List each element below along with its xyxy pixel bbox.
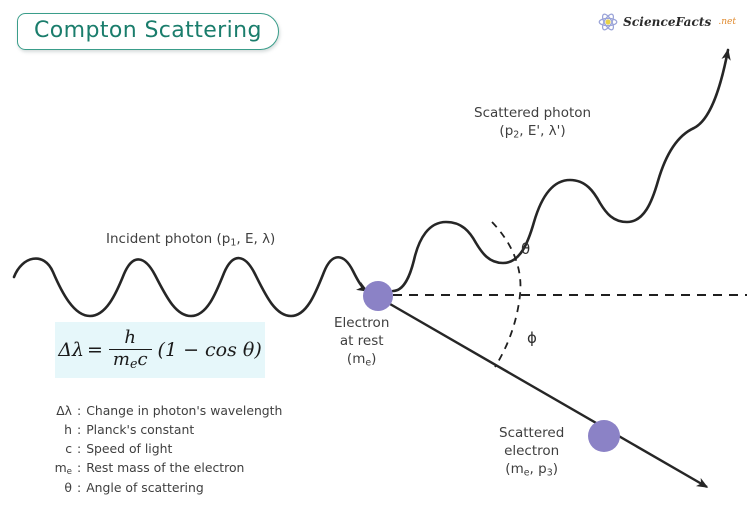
formula-lhs: Δλ [58, 339, 84, 361]
scattered-photon-tail: , E', λ') [519, 123, 565, 139]
incident-photon-label: Incident photon (p1, E, λ) [106, 231, 275, 250]
phi-angle-label: ϕ [527, 329, 537, 347]
scattered-electron-tail: ) [553, 461, 558, 477]
theta-angle-label: θ [521, 240, 530, 258]
electron-at-rest-line1: Electron [334, 315, 389, 333]
scattered-electron-p: , p [530, 461, 547, 477]
electron-mass-symbol: (m [347, 351, 365, 367]
formula-den-m: m [113, 349, 130, 370]
legend-row: c : Speed of light [38, 440, 282, 459]
legend-definition: Speed of light [86, 440, 172, 459]
legend-symbol-subscript: e [67, 467, 72, 477]
legend-symbol: Δλ [38, 402, 77, 421]
scattered-photon-wave [393, 50, 728, 291]
scattered-electron-circle [588, 420, 620, 452]
legend-definition: Change in photon's wavelength [86, 402, 282, 421]
scattered-photon-p: (p [499, 123, 513, 139]
electron-at-rest-label: Electron at rest (me) [334, 315, 389, 369]
legend-definition: Angle of scattering [86, 479, 204, 498]
diagram-canvas: Compton Scattering ScienceFacts .net [0, 0, 750, 511]
legend-symbol: me [38, 459, 77, 479]
electron-mass-tail: ) [371, 351, 376, 367]
electron-at-rest-circle [363, 281, 393, 311]
formula-den-c: c [137, 349, 147, 370]
incident-photon-text-tail: , E, λ) [236, 231, 275, 247]
legend-symbol: c [38, 440, 77, 459]
scattered-electron-line3: (me, p3) [499, 461, 564, 480]
legend-symbol: θ [38, 479, 77, 498]
compton-formula: Δλ = h mec (1 − cos θ) [58, 329, 262, 370]
formula-denominator: mec [109, 349, 152, 371]
legend-definition: Rest mass of the electron [86, 459, 244, 478]
scattered-photon-line1: Scattered photon [474, 105, 591, 123]
legend-row: h : Planck's constant [38, 421, 282, 440]
legend-row: θ : Angle of scattering [38, 479, 282, 498]
formula-numerator: h [119, 329, 141, 348]
incident-photon-wave [14, 257, 367, 316]
legend-row: me : Rest mass of the electron [38, 459, 282, 479]
scattered-electron-line1: Scattered [499, 425, 564, 443]
legend-symbol: h [38, 421, 77, 440]
legend-symbol-base: m [55, 460, 67, 475]
legend-row: Δλ : Change in photon's wavelength [38, 402, 282, 421]
formula-fraction: h mec [109, 329, 152, 370]
legend-definition: Planck's constant [86, 421, 194, 440]
symbol-legend: Δλ : Change in photon's wavelength h : P… [38, 402, 282, 498]
scattered-photon-label: Scattered photon (p2, E', λ') [474, 105, 591, 142]
formula-equals: = [87, 339, 103, 361]
legend-colon: : [77, 421, 86, 440]
formula-rhs: (1 − cos θ) [158, 339, 262, 361]
electron-at-rest-line2: at rest [334, 333, 389, 351]
legend-colon: : [77, 402, 86, 421]
compton-formula-box: Δλ = h mec (1 − cos θ) [55, 322, 265, 378]
scattered-electron-label: Scattered electron (me, p3) [499, 425, 564, 479]
legend-colon: : [77, 459, 86, 478]
incident-photon-text: Incident photon (p [106, 231, 230, 247]
scattered-electron-line2: electron [499, 443, 564, 461]
electron-at-rest-line3: (me) [334, 351, 389, 370]
scattered-photon-line2: (p2, E', λ') [474, 123, 591, 142]
legend-colon: : [77, 479, 86, 498]
legend-colon: : [77, 440, 86, 459]
scattered-electron-m: (m [505, 461, 523, 477]
